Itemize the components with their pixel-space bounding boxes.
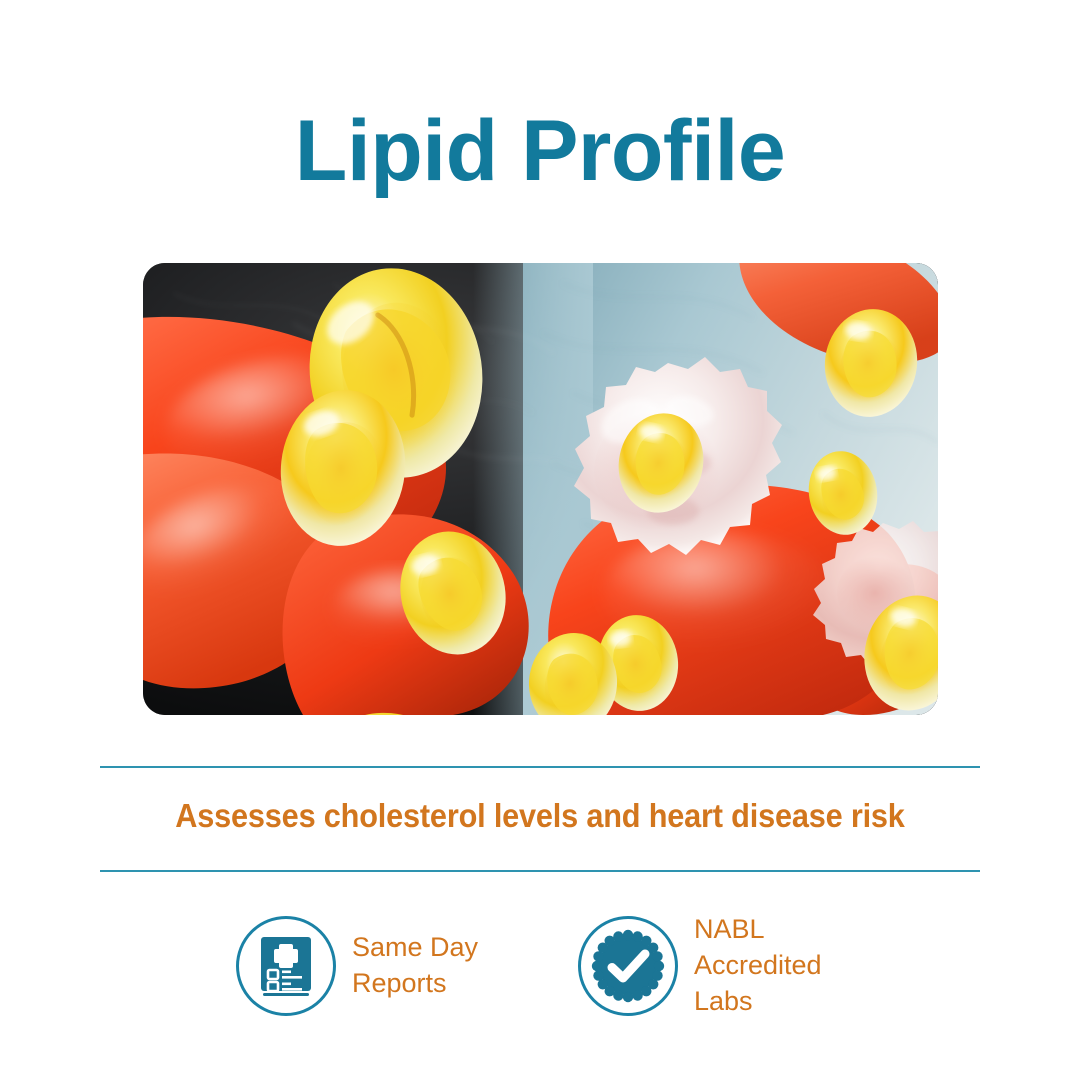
feature-label-nabl-accredited-labs: NABL Accredited Labs	[694, 912, 844, 1020]
feature-nabl-accredited-labs[interactable]: NABL Accredited Labs	[578, 912, 844, 1020]
page-title: Lipid Profile	[295, 108, 785, 194]
medical-report-icon-svg	[259, 935, 313, 997]
lipid-profile-card: Lipid Profile	[0, 0, 1080, 1080]
divider-bottom	[100, 870, 980, 872]
verified-badge-check-icon-svg	[590, 928, 666, 1004]
verified-badge-check-icon	[578, 916, 678, 1016]
feature-badges: Same Day Reports	[0, 912, 1080, 1020]
divider-top	[100, 766, 980, 768]
tagline: Assesses cholesterol levels and heart di…	[38, 797, 1042, 835]
feature-same-day-reports[interactable]: Same Day Reports	[236, 912, 502, 1020]
feature-label-same-day-reports: Same Day Reports	[352, 930, 502, 1002]
medical-report-icon	[236, 916, 336, 1016]
hero-illustration-svg	[143, 263, 938, 715]
blood-cells-cholesterol-illustration	[143, 263, 938, 715]
